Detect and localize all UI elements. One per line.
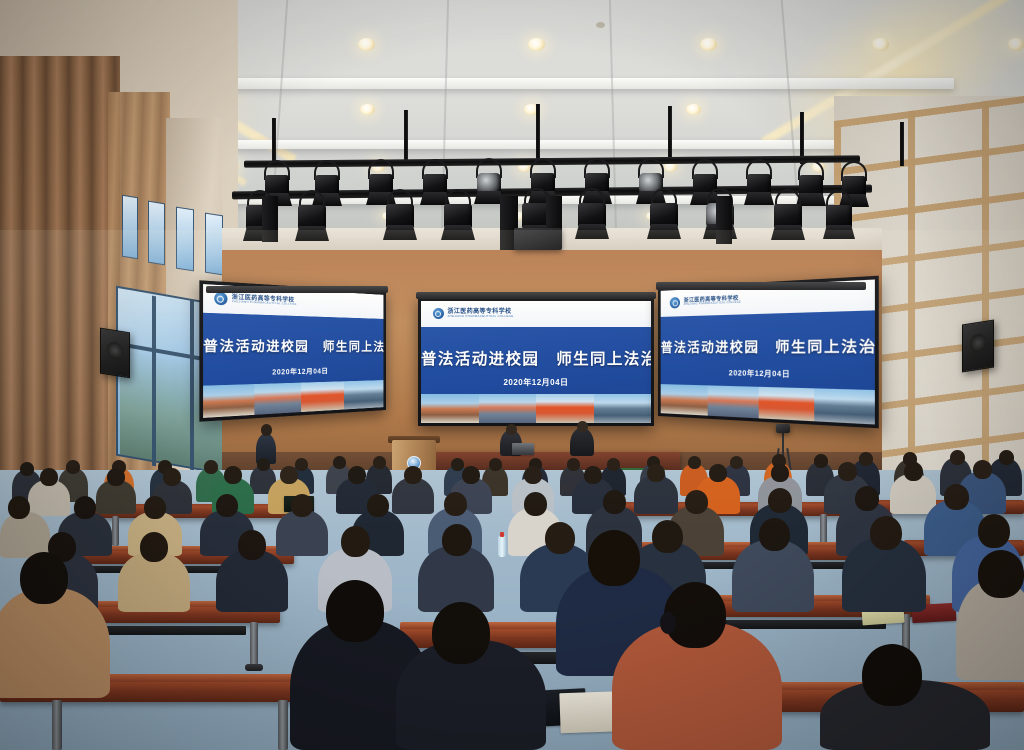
audience-head-foreground <box>588 530 640 586</box>
headphone-icon <box>660 612 676 634</box>
window-pane <box>176 207 194 272</box>
lecture-hall-photo: 浙江医药高等专科学校 ZHEJIANG PHARMACEUTICAL COLLE… <box>0 0 1024 750</box>
desk-leg <box>112 516 119 546</box>
audience-head <box>291 494 313 517</box>
audience-head <box>950 450 965 465</box>
audience-head <box>944 484 969 510</box>
window-mullion <box>190 300 194 471</box>
audience-head <box>373 456 386 469</box>
screen-housing-center <box>416 292 656 299</box>
slide-photo <box>203 384 254 418</box>
audience-head <box>603 490 626 514</box>
projector <box>514 228 562 250</box>
slide-date: 2020年12月04日 <box>421 377 651 388</box>
truss-post <box>716 196 732 244</box>
downlight <box>528 38 545 51</box>
stage-spotlight <box>648 188 680 238</box>
audience-head <box>524 466 542 484</box>
slide-photo <box>814 388 875 424</box>
stage-speaker-2-head <box>577 421 588 432</box>
window-mullion <box>152 296 156 467</box>
audience-head <box>973 460 992 479</box>
audience-head <box>567 458 580 471</box>
audience-head <box>759 518 790 551</box>
truss-drop-rod <box>536 104 540 162</box>
audience-head-foreground <box>862 644 922 706</box>
truss-drop-rod <box>900 122 904 166</box>
downlight <box>686 104 701 115</box>
desk-leg <box>52 700 62 750</box>
truss-drop-rod <box>272 118 276 166</box>
projection-screen-center: 浙江医药高等专科学校 ZHEJIANG PHARMACEUTICAL COLLE… <box>418 298 654 426</box>
audience-head <box>40 468 58 486</box>
audience-head <box>768 488 792 513</box>
college-logo-icon <box>433 308 444 319</box>
screen-housing-left <box>206 286 388 293</box>
truss-post <box>262 196 278 242</box>
audience-head <box>652 520 683 553</box>
projection-screen-left: 浙江医药高等专科学校 ZHEJIANG PHARMACEUTICAL COLLE… <box>199 280 386 421</box>
standing-attendee-head <box>261 424 272 436</box>
audience-head <box>163 468 181 486</box>
window-pane <box>122 195 138 260</box>
camera-head <box>776 424 790 433</box>
downlight <box>360 104 375 115</box>
audience-head <box>838 462 857 481</box>
slide-photo <box>344 380 383 409</box>
stage-spotlight <box>296 190 328 240</box>
audience-head <box>771 464 789 482</box>
slide-photo <box>479 394 537 423</box>
slide-photo <box>536 394 594 423</box>
slide-title: 普法活动进校园 师生同上法治课 <box>203 335 383 355</box>
audience-head <box>295 458 308 471</box>
window-pane <box>148 201 165 266</box>
slide-photo <box>708 385 759 418</box>
audience-head <box>257 458 270 471</box>
audience-head <box>238 530 266 560</box>
desk-leg <box>820 514 827 544</box>
slide-photo <box>661 384 708 416</box>
stage-spotlight <box>744 159 774 207</box>
audience-head <box>140 532 168 562</box>
audience-head <box>224 466 242 484</box>
slide-date: 2020年12月04日 <box>661 367 875 382</box>
audience-head <box>688 456 701 469</box>
speaker-cone <box>970 333 987 354</box>
audience-head <box>404 466 422 484</box>
audience-head <box>367 494 389 517</box>
audience-head <box>730 456 743 469</box>
audience-head <box>107 468 125 486</box>
audience-head <box>462 466 480 484</box>
stage-speaker-2 <box>570 428 594 456</box>
audience-head <box>341 526 370 557</box>
slide-title: 普法活动进校园 师生同上法治课 <box>421 347 651 369</box>
screen-housing-right <box>656 282 866 290</box>
stage-spotlight <box>824 190 854 238</box>
slide-right: 浙江医药高等专科学校 ZHEJIANG PHARMACEUTICAL COLLE… <box>661 279 875 424</box>
wall-speaker-right <box>962 319 994 372</box>
audience-head <box>859 452 873 466</box>
audience-head <box>66 460 80 474</box>
audience-head <box>444 492 467 516</box>
desk-leg <box>250 622 258 666</box>
stage-laptop <box>512 443 534 455</box>
audience-head <box>204 460 218 474</box>
college-logo-icon <box>670 297 680 309</box>
audience-head <box>855 486 879 511</box>
wall-speaker-left <box>100 328 130 379</box>
audience-head <box>442 524 472 556</box>
audience-head <box>709 464 727 482</box>
college-name-en: ZHEJIANG PHARMACEUTICAL COLLEGE <box>448 315 514 318</box>
slide-photo <box>594 394 652 423</box>
water-bottle <box>498 536 506 557</box>
stage-speaker-1-head <box>506 424 517 435</box>
audience-head <box>216 494 238 517</box>
truss-drop-rod <box>668 106 672 162</box>
slide-photo <box>421 394 479 423</box>
slide-photo <box>254 383 301 415</box>
audience-head <box>685 490 708 514</box>
desk-leg <box>278 700 288 750</box>
slide-center: 浙江医药高等专科学校 ZHEJIANG PHARMACEUTICAL COLLE… <box>421 301 651 423</box>
audience-head-foreground <box>326 580 384 642</box>
desk-foot <box>245 664 263 671</box>
audience-head <box>451 458 464 471</box>
stage-spotlight <box>384 189 416 239</box>
slide-photo <box>301 381 344 412</box>
audience-head <box>904 462 923 481</box>
audience-head <box>978 514 1010 548</box>
stage-spotlight <box>772 189 804 239</box>
audience-member-foreground <box>0 588 110 698</box>
audience-head <box>545 522 575 554</box>
stage-spotlight <box>576 188 608 238</box>
audience-head <box>8 496 30 519</box>
audience-head <box>607 458 620 471</box>
downlight <box>700 38 717 51</box>
projection-screen-right: 浙江医药高等专科学校 ZHEJIANG PHARMACEUTICAL COLLE… <box>658 276 879 429</box>
audience-head <box>348 466 366 484</box>
ceiling-beam-2 <box>136 140 926 149</box>
audience-head <box>280 466 298 484</box>
slide-photo <box>759 387 815 422</box>
audience-head-foreground <box>978 550 1024 598</box>
audience-head <box>999 450 1014 465</box>
audience-head-foreground <box>432 602 490 664</box>
college-name-en: ZHEJIANG PHARMACEUTICAL COLLEGE <box>684 302 741 307</box>
audience-head <box>647 464 665 482</box>
audience-head <box>144 496 166 519</box>
audience-head <box>584 466 602 484</box>
audience-head <box>489 458 502 471</box>
audience-head-foreground <box>20 552 68 604</box>
audience-head <box>74 496 96 519</box>
slide-photo-strip <box>421 394 651 423</box>
slide-title: 普法活动进校园 师生同上法治课 <box>661 335 875 358</box>
slide-header: 浙江医药高等专科学校 ZHEJIANG PHARMACEUTICAL COLLE… <box>421 301 651 327</box>
window-pane <box>205 213 223 276</box>
truss-drop-rod <box>404 110 408 164</box>
audience-head <box>333 456 346 469</box>
slide-left: 浙江医药高等专科学校 ZHEJIANG PHARMACEUTICAL COLLE… <box>203 284 383 418</box>
college-name-en: ZHEJIANG PHARMACEUTICAL COLLEGE <box>232 301 297 307</box>
smoke-detector-icon <box>596 22 605 28</box>
slide-date: 2020年12月04日 <box>203 364 383 379</box>
downlight <box>358 38 375 51</box>
downlight <box>1008 38 1024 51</box>
downlight <box>872 38 889 51</box>
audience-head <box>20 462 34 476</box>
speaker-cone <box>107 340 123 360</box>
audience-head <box>814 454 828 468</box>
audience-head <box>870 516 902 550</box>
audience-head <box>524 492 547 516</box>
stage-spotlight <box>442 189 474 239</box>
college-logo-icon <box>214 292 227 306</box>
